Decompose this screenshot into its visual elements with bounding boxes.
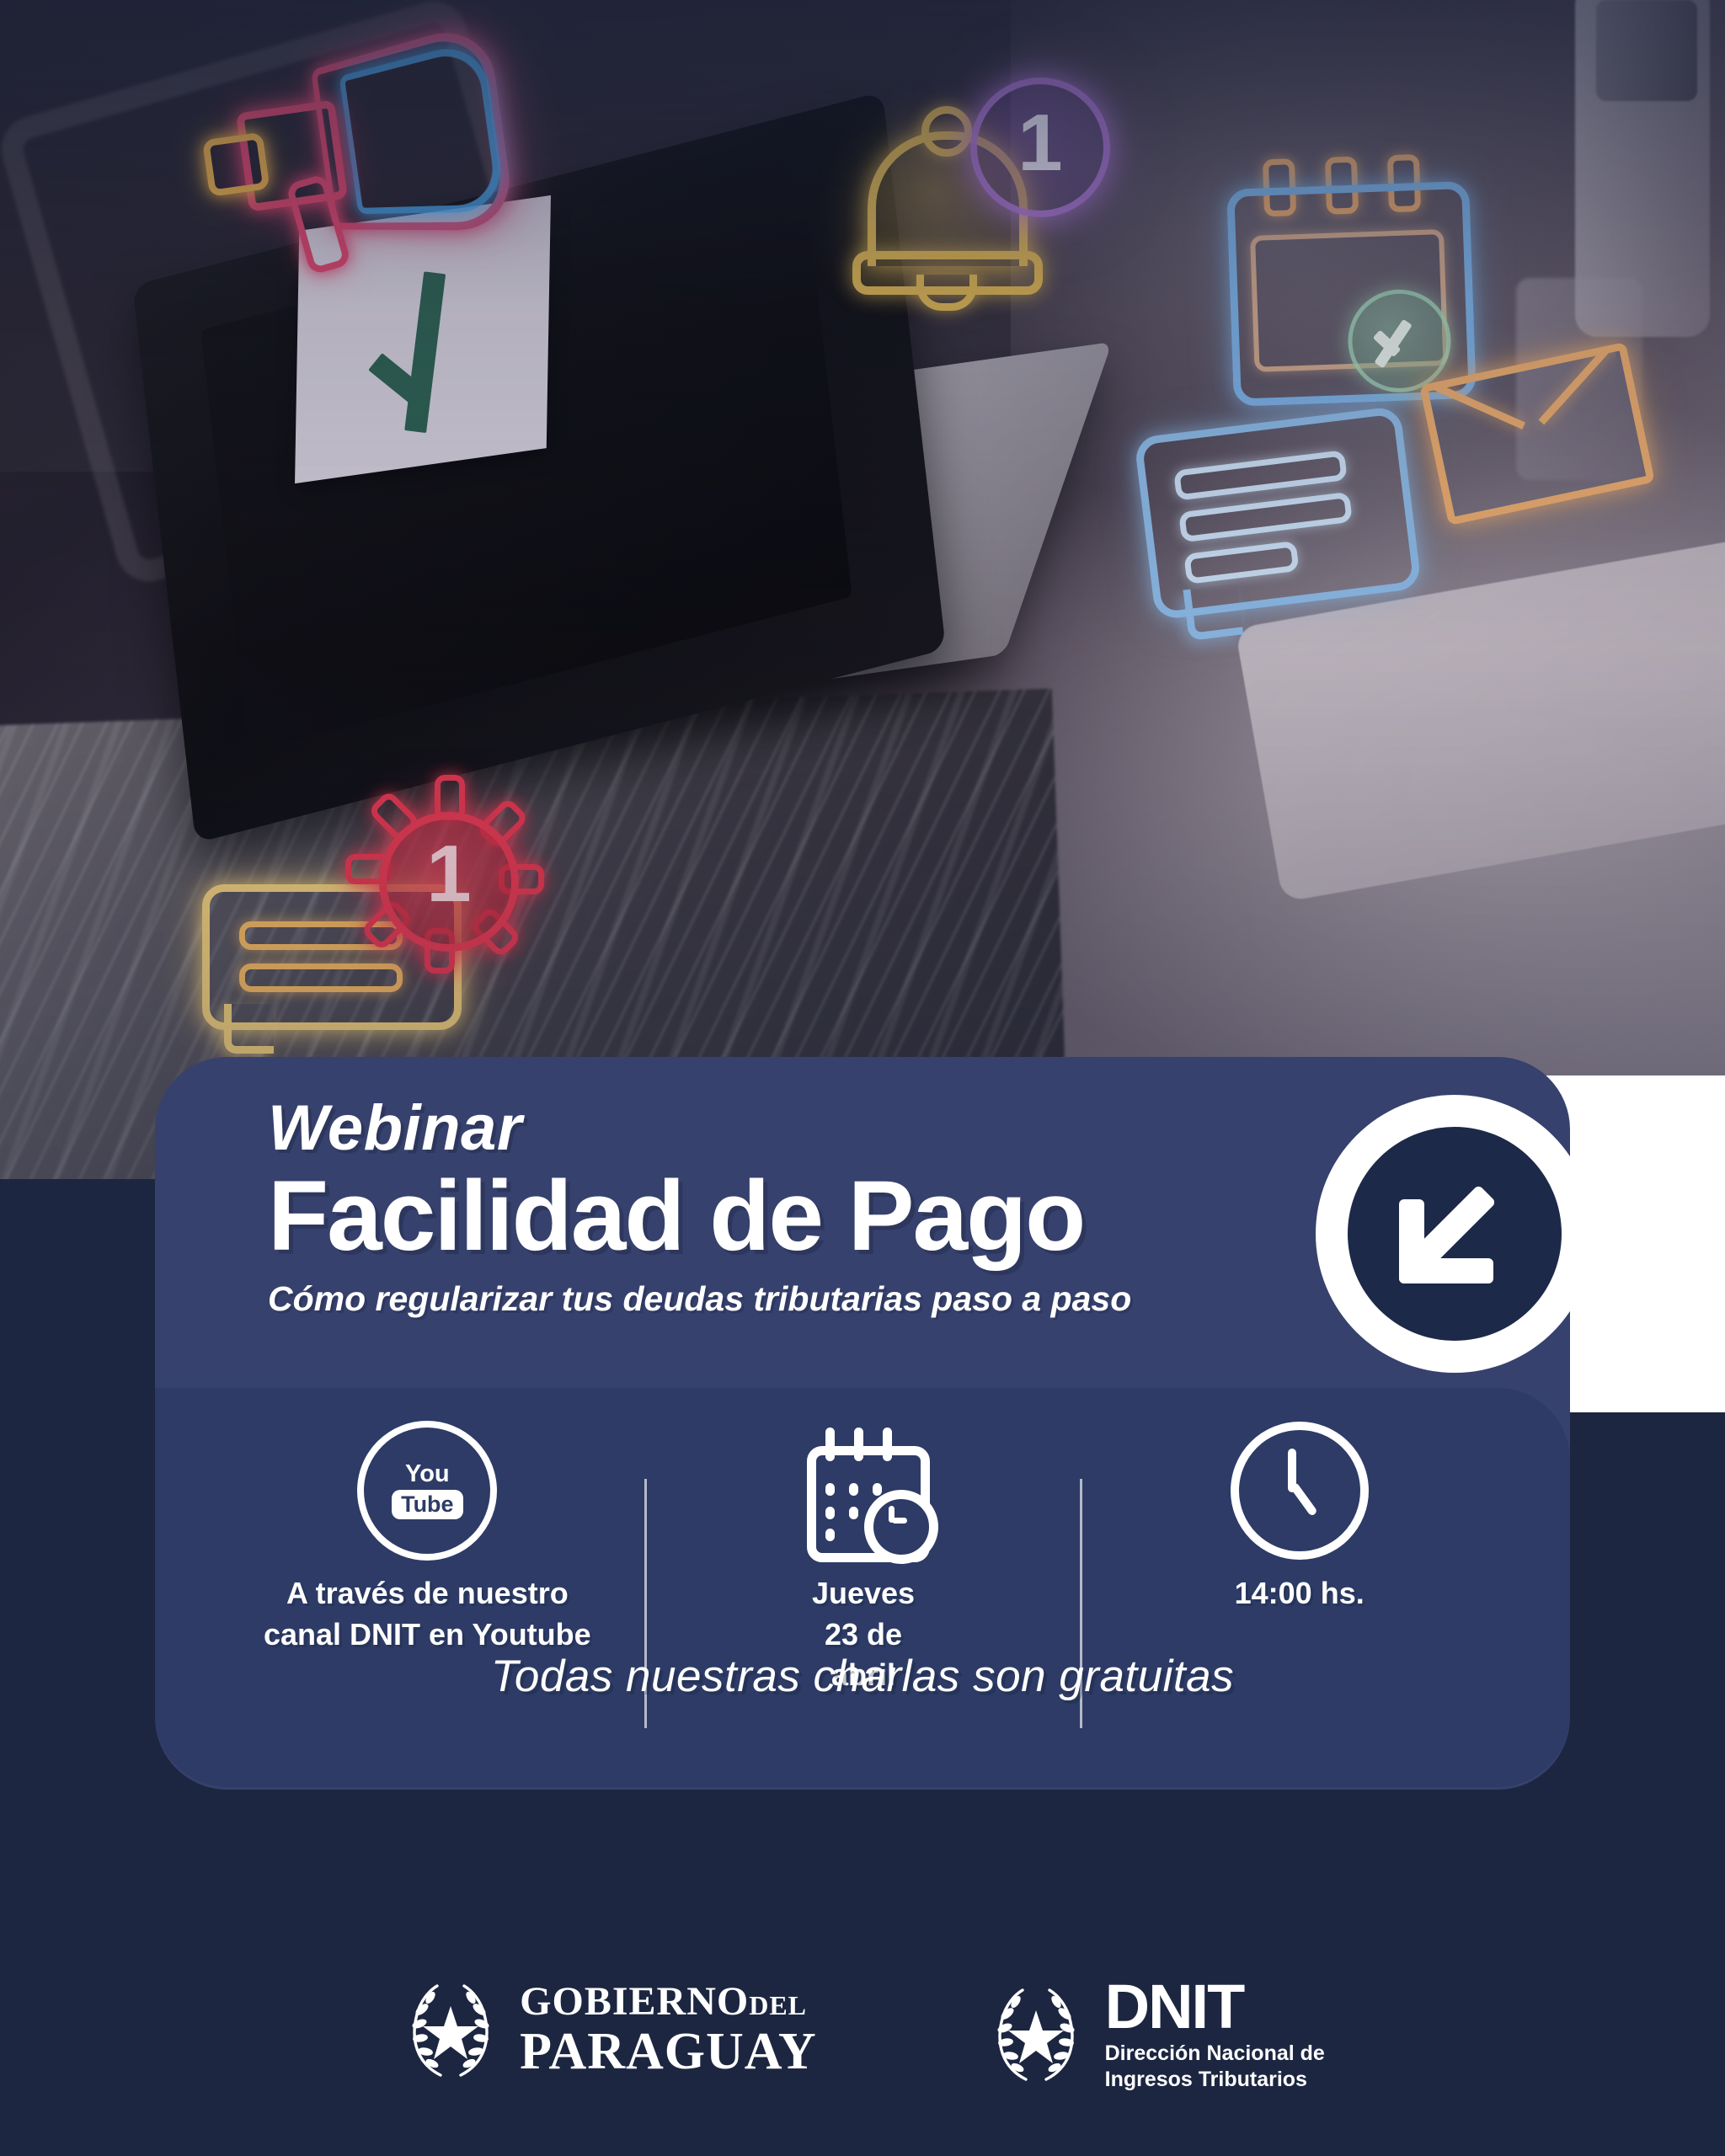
tagline: Todas nuestras charlas son gratuitas bbox=[155, 1651, 1570, 1702]
youtube-icon-you: You bbox=[405, 1462, 450, 1486]
gobierno-del-paraguay-logo: GOBIERNODEL PARAGUAY bbox=[400, 1976, 816, 2084]
clock-icon bbox=[1231, 1422, 1369, 1560]
eyebrow-label: Webinar bbox=[268, 1095, 1279, 1162]
laurel-wreath-star-icon bbox=[400, 1976, 501, 2084]
dnit-subline-2: Ingresos Tributarios bbox=[1105, 2067, 1325, 2093]
title-block: Webinar Facilidad de Pago Cómo regulariz… bbox=[268, 1095, 1279, 1318]
date-line-1: Jueves bbox=[812, 1573, 915, 1614]
photo-overlay bbox=[0, 0, 1725, 1179]
footer: GOBIERNODEL PARAGUAY bbox=[0, 1962, 1725, 2156]
calendar-clock-icon bbox=[800, 1428, 927, 1554]
youtube-icon-tube: Tube bbox=[392, 1490, 463, 1518]
info-label-channel: A través de nuestro canal DNIT en Youtub… bbox=[250, 1573, 604, 1655]
arrow-down-left-icon bbox=[1394, 1172, 1517, 1295]
hero-photo: 1 bbox=[0, 0, 1725, 1179]
webinar-poster: 1 bbox=[0, 0, 1725, 2156]
info-item-youtube: You Tube A través de nuestro canal DNIT … bbox=[211, 1423, 644, 1655]
page-subtitle: Cómo regularizar tus deudas tributarias … bbox=[268, 1280, 1279, 1318]
info-label-time: 14:00 hs. bbox=[1235, 1573, 1365, 1614]
dnit-subline-1: Dirección Nacional de bbox=[1105, 2041, 1325, 2067]
info-item-time: 14:00 hs. bbox=[1082, 1423, 1516, 1614]
laurel-wreath-star-icon bbox=[985, 1980, 1087, 2088]
gobierno-line1-small: DEL bbox=[749, 1990, 807, 2020]
date-line-2: 23 de bbox=[812, 1614, 915, 1656]
gobierno-line1: GOBIERNO bbox=[520, 1979, 749, 2024]
gobierno-line2: PARAGUAY bbox=[520, 2025, 816, 2078]
youtube-icon: You Tube bbox=[357, 1421, 497, 1561]
dnit-logo: DNIT Dirección Nacional de Ingresos Trib… bbox=[985, 1976, 1325, 2092]
page-title: Facilidad de Pago bbox=[268, 1166, 1279, 1267]
dnit-acronym: DNIT bbox=[1105, 1976, 1325, 2038]
